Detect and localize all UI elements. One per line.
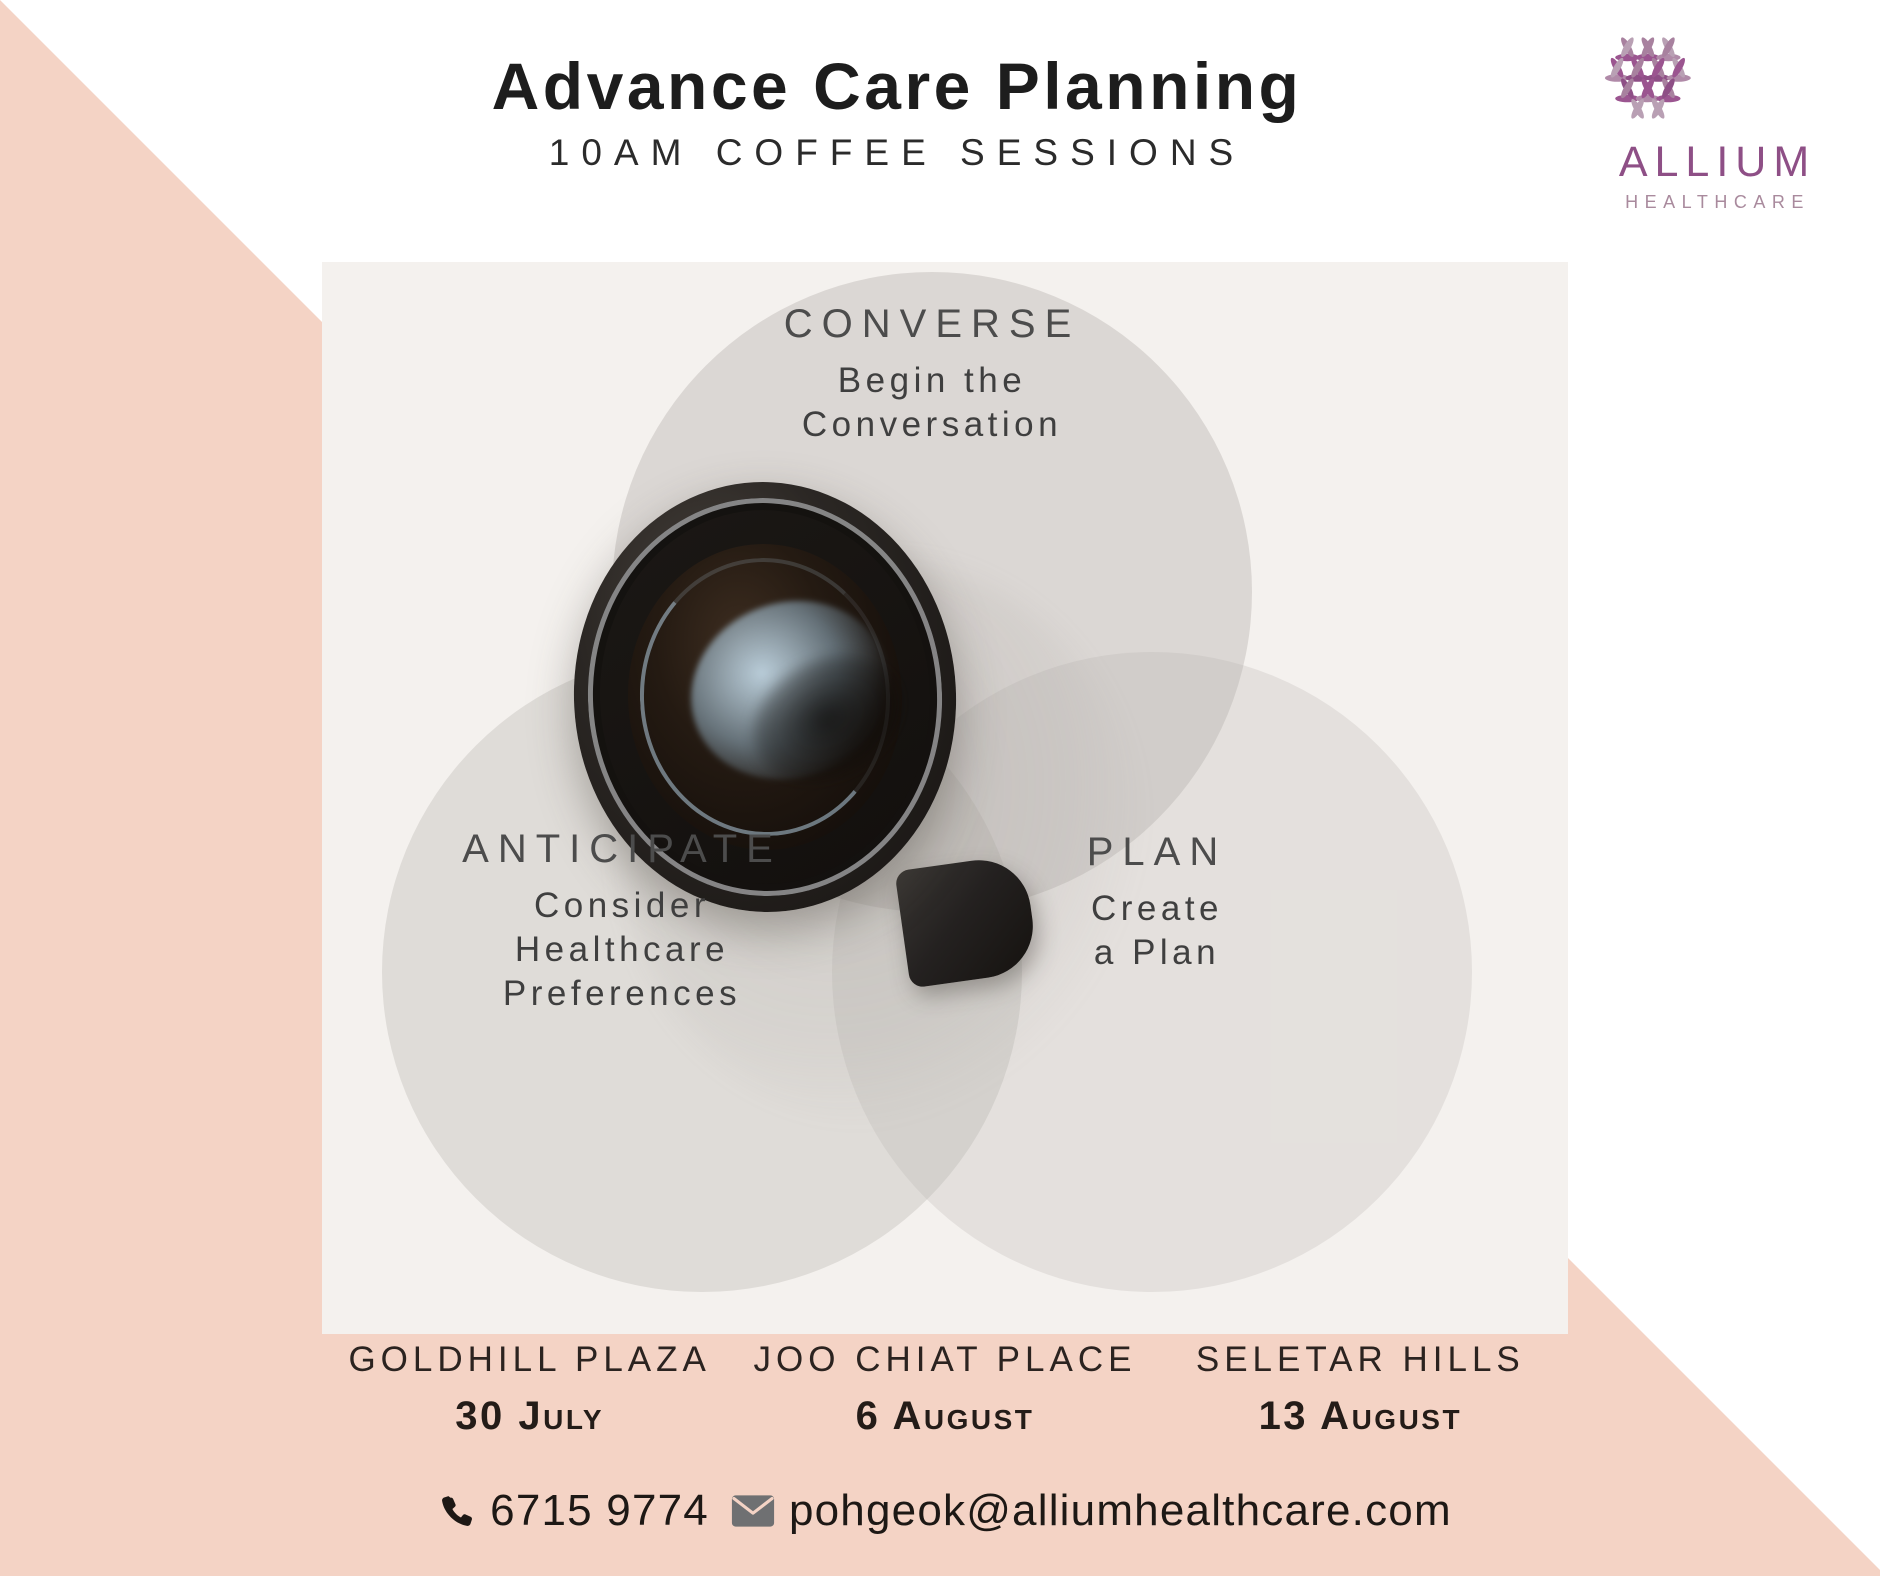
location-date: 6 August bbox=[737, 1394, 1152, 1439]
location-item: GOLDHILL PLAZA 30 July bbox=[322, 1340, 737, 1439]
venn-desc-converse-line2: Conversation bbox=[677, 403, 1187, 447]
page-title: Advance Care Planning bbox=[322, 48, 1472, 124]
brand-tagline: HEALTHCARE bbox=[1590, 192, 1845, 213]
venn-title-anticipate: ANTICIPATE bbox=[342, 827, 902, 872]
contact-phone[interactable]: 6715 9774 bbox=[438, 1486, 709, 1536]
location-date: 13 August bbox=[1153, 1394, 1568, 1439]
location-name: SELETAR HILLS bbox=[1153, 1340, 1568, 1380]
brand-logo: ALLIUM HEALTHCARE bbox=[1590, 22, 1845, 213]
venn-desc-plan: Create a Plan bbox=[942, 887, 1372, 975]
venn-desc-anticipate-line1: Consider bbox=[342, 884, 902, 928]
venn-photo-panel: CONVERSE Begin the Conversation ANTICIPA… bbox=[322, 262, 1568, 1334]
venn-desc-converse-line1: Begin the bbox=[677, 359, 1187, 403]
venn-desc-anticipate-line3: Preferences bbox=[342, 972, 902, 1016]
phone-number: 6715 9774 bbox=[490, 1486, 709, 1536]
poster-canvas: Advance Care Planning 10AM COFFEE SESSIO… bbox=[0, 0, 1880, 1576]
venn-title-plan: PLAN bbox=[942, 830, 1372, 875]
venn-desc-plan-line2: a Plan bbox=[942, 931, 1372, 975]
location-name: JOO CHIAT PLACE bbox=[737, 1340, 1152, 1380]
venn-label-converse: CONVERSE Begin the Conversation bbox=[677, 302, 1187, 447]
contact-email[interactable]: pohgeok@alliumhealthcare.com bbox=[731, 1486, 1452, 1536]
allium-flower-mandala-icon bbox=[1590, 22, 1845, 134]
venn-desc-anticipate-line2: Healthcare bbox=[342, 928, 902, 972]
location-item: JOO CHIAT PLACE 6 August bbox=[737, 1340, 1152, 1439]
page-subtitle: 10AM COFFEE SESSIONS bbox=[322, 132, 1472, 174]
coffee-surface bbox=[620, 537, 910, 857]
venn-desc-plan-line1: Create bbox=[942, 887, 1372, 931]
location-item: SELETAR HILLS 13 August bbox=[1153, 1340, 1568, 1439]
phone-icon bbox=[438, 1492, 476, 1530]
contact-row: 6715 9774 pohgeok@alliumhealthcare.com bbox=[322, 1486, 1568, 1536]
venn-title-converse: CONVERSE bbox=[677, 302, 1187, 347]
email-address: pohgeok@alliumhealthcare.com bbox=[789, 1486, 1452, 1536]
location-date: 30 July bbox=[322, 1394, 737, 1439]
location-name: GOLDHILL PLAZA bbox=[322, 1340, 737, 1380]
venn-desc-converse: Begin the Conversation bbox=[677, 359, 1187, 447]
venn-label-anticipate: ANTICIPATE Consider Healthcare Preferenc… bbox=[342, 827, 902, 1016]
locations-row: GOLDHILL PLAZA 30 July JOO CHIAT PLACE 6… bbox=[322, 1340, 1568, 1439]
venn-desc-anticipate: Consider Healthcare Preferences bbox=[342, 884, 902, 1016]
brand-wordmark: ALLIUM bbox=[1590, 138, 1845, 187]
venn-label-plan: PLAN Create a Plan bbox=[942, 830, 1372, 975]
envelope-icon bbox=[731, 1493, 775, 1529]
